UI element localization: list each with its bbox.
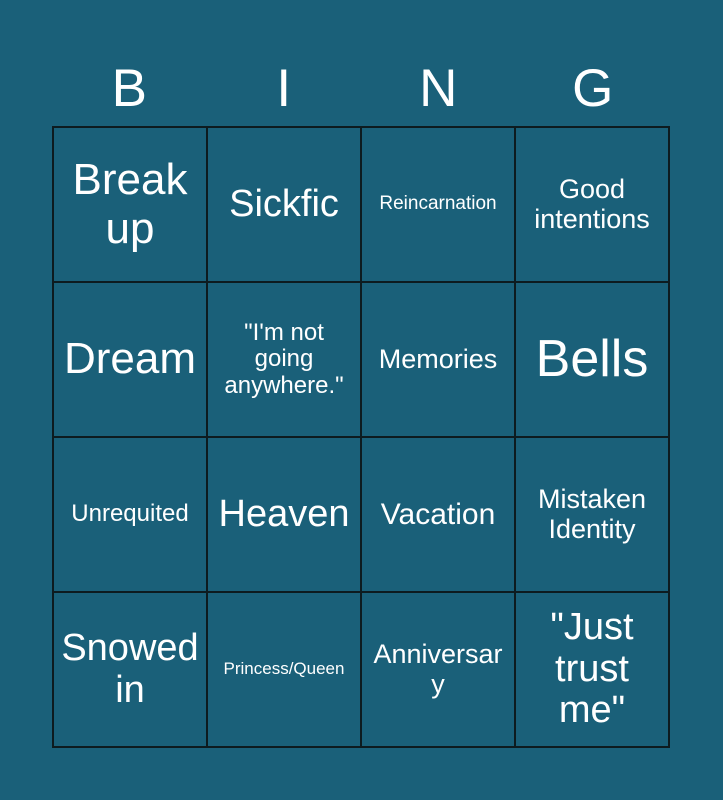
bingo-cell-r3c1[interactable]: Unrequited bbox=[54, 438, 208, 593]
bingo-header: B I N G bbox=[52, 51, 670, 126]
bingo-cell-r3c2[interactable]: Heaven bbox=[208, 438, 362, 593]
bingo-cell-label: "I'm not going anywhere." bbox=[213, 320, 355, 399]
header-letter-i: I bbox=[207, 62, 362, 115]
bingo-cell-r4c4[interactable]: "Just trust me" bbox=[516, 593, 670, 748]
bingo-cell-label: Princess/Queen bbox=[213, 660, 355, 679]
bingo-cell-r2c3[interactable]: Memories bbox=[362, 283, 516, 438]
bingo-cell-r4c1[interactable]: Snowed in bbox=[54, 593, 208, 748]
bingo-grid: Break up Sickfic Reincarnation Good inte… bbox=[52, 126, 670, 748]
bingo-cell-r1c3[interactable]: Reincarnation bbox=[362, 128, 516, 283]
bingo-cell-r2c1[interactable]: Dream bbox=[54, 283, 208, 438]
bingo-cell-label: Anniversary bbox=[367, 640, 509, 699]
bingo-cell-label: Vacation bbox=[367, 498, 509, 531]
bingo-cell-r2c2[interactable]: "I'm not going anywhere." bbox=[208, 283, 362, 438]
bingo-cell-r4c2[interactable]: Princess/Queen bbox=[208, 593, 362, 748]
bingo-cell-label: Memories bbox=[367, 345, 509, 375]
bingo-cell-label: Good intentions bbox=[521, 175, 663, 234]
bingo-cell-label: Bells bbox=[521, 331, 663, 388]
bingo-cell-label: Break up bbox=[59, 156, 201, 253]
header-letter-n: N bbox=[361, 62, 516, 115]
bingo-cell-r1c2[interactable]: Sickfic bbox=[208, 128, 362, 283]
bingo-cell-label: Reincarnation bbox=[367, 194, 509, 215]
bingo-cell-label: Mistaken Identity bbox=[521, 485, 663, 544]
bingo-card: B I N G Break up Sickfic Reincarnation G… bbox=[0, 0, 723, 800]
bingo-cell-r2c4[interactable]: Bells bbox=[516, 283, 670, 438]
header-letter-g: G bbox=[516, 62, 671, 115]
bingo-cell-r1c4[interactable]: Good intentions bbox=[516, 128, 670, 283]
header-letter-b: B bbox=[52, 62, 207, 115]
bingo-cell-label: Unrequited bbox=[59, 501, 201, 527]
bingo-cell-r1c1[interactable]: Break up bbox=[54, 128, 208, 283]
bingo-cell-label: Sickfic bbox=[213, 184, 355, 226]
bingo-cell-label: Dream bbox=[59, 335, 201, 383]
bingo-cell-label: Snowed in bbox=[59, 628, 201, 712]
bingo-cell-label: Heaven bbox=[213, 494, 355, 536]
bingo-cell-r3c4[interactable]: Mistaken Identity bbox=[516, 438, 670, 593]
bingo-cell-r4c3[interactable]: Anniversary bbox=[362, 593, 516, 748]
bingo-cell-r3c3[interactable]: Vacation bbox=[362, 438, 516, 593]
bingo-cell-label: "Just trust me" bbox=[521, 607, 663, 732]
